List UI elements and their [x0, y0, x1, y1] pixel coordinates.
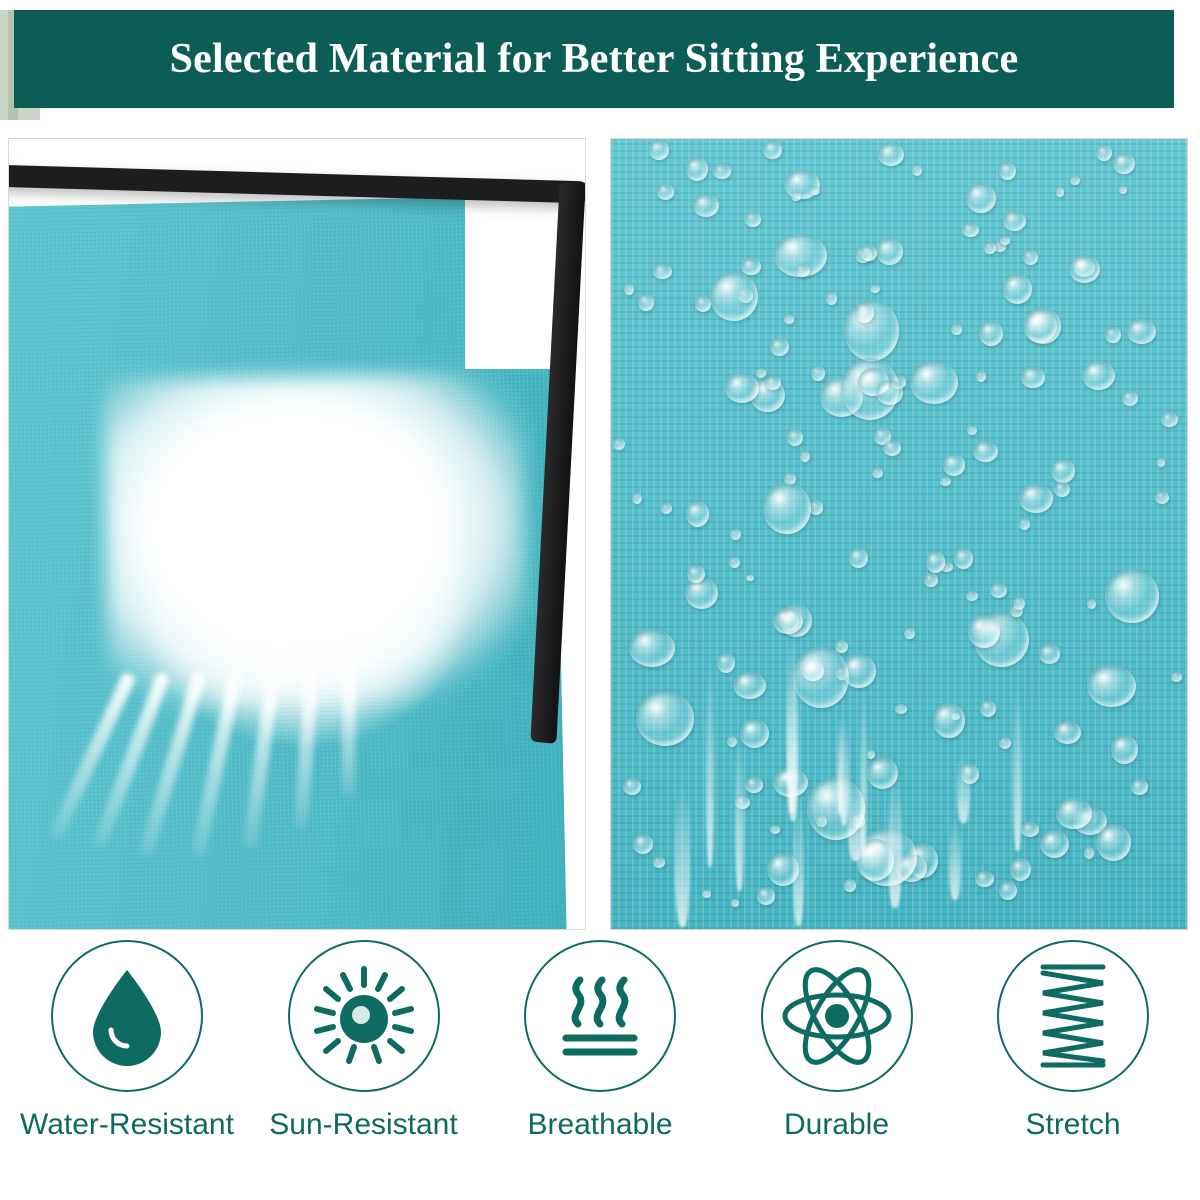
water-droplet — [811, 366, 824, 381]
water-droplet — [810, 187, 820, 195]
feature-label: Sun-Resistant — [269, 1108, 457, 1142]
water-droplet — [876, 238, 903, 265]
feature-label: Breathable — [527, 1108, 672, 1142]
water-droplet — [1155, 491, 1169, 504]
water-droplet — [1056, 187, 1065, 197]
water-droplet — [1087, 599, 1096, 609]
water-droplet — [686, 501, 709, 527]
water-streak — [706, 658, 714, 868]
water-droplet — [745, 777, 762, 792]
water-droplet — [770, 825, 780, 834]
page-title: Selected Material for Better Sitting Exp… — [170, 35, 1019, 83]
water-droplet — [1054, 721, 1081, 744]
water-droplet — [745, 212, 761, 228]
water-droplet — [842, 654, 877, 688]
water-droplet — [835, 640, 848, 653]
atom-icon — [781, 964, 893, 1068]
water-droplet — [849, 548, 868, 568]
water-droplet — [795, 264, 810, 277]
water-streak — [675, 779, 690, 926]
water-droplet — [867, 750, 876, 759]
feature-durable[interactable]: Durable — [724, 940, 950, 1142]
water-droplet — [727, 736, 737, 747]
water-droplet — [1056, 798, 1092, 829]
water-droplet — [763, 483, 810, 534]
water-droplet — [1111, 735, 1137, 764]
water-droplet — [999, 162, 1015, 180]
water-droplet — [966, 591, 978, 601]
water-droplet — [878, 143, 903, 166]
water-droplet — [999, 881, 1017, 900]
water-droplet — [980, 700, 996, 717]
water-droplet — [623, 778, 641, 794]
water-droplet — [844, 879, 856, 892]
water-droplet — [1051, 459, 1075, 483]
feature-circle — [997, 940, 1149, 1092]
water-droplet — [1131, 779, 1148, 795]
water-droplet — [1105, 327, 1121, 343]
water-droplet — [870, 285, 881, 294]
water-droplet — [940, 477, 951, 486]
water-droplet — [1000, 236, 1009, 244]
feature-label: Water-Resistant — [20, 1108, 234, 1142]
water-droplet — [895, 704, 907, 714]
water-droplet — [872, 468, 883, 479]
water-droplet — [717, 653, 735, 673]
banner-main: Selected Material for Better Sitting Exp… — [14, 10, 1174, 108]
water-streak — [848, 785, 863, 862]
water-droplet — [1019, 484, 1053, 513]
droplet-layer — [611, 139, 1187, 929]
water-droplet — [999, 737, 1011, 749]
water-droplet — [653, 264, 672, 280]
feature-sun-resistant[interactable]: Sun-Resistant — [251, 940, 477, 1142]
sun-glare-highlight — [103, 371, 530, 710]
water-droplet — [725, 373, 759, 403]
spring-icon — [1021, 961, 1125, 1071]
water-droplet — [1084, 847, 1095, 858]
water-droplet — [1054, 482, 1070, 497]
water-droplet — [624, 284, 634, 295]
water-droplet — [943, 454, 966, 476]
water-droplet — [741, 258, 760, 275]
water-droplet — [1039, 644, 1060, 663]
water-droplet — [933, 703, 965, 738]
water-droplet — [1003, 211, 1026, 231]
water-droplet — [826, 292, 838, 305]
water-droplet — [1096, 824, 1131, 861]
water-droplet — [713, 164, 731, 180]
water-droplet — [702, 890, 711, 899]
water-droplet — [973, 441, 998, 462]
water-droplet — [686, 157, 708, 180]
water-droplet — [632, 493, 642, 504]
water-drop-icon — [79, 964, 175, 1068]
water-droplet — [860, 245, 876, 261]
water-droplet — [975, 871, 994, 887]
water-droplet — [962, 223, 979, 237]
fabric-sunfade-photo — [8, 138, 586, 930]
feature-label: Stretch — [1025, 1108, 1120, 1142]
water-droplet — [984, 242, 996, 254]
water-droplet — [954, 548, 973, 569]
feature-label: Durable — [784, 1108, 889, 1142]
feature-circle — [524, 940, 676, 1092]
water-droplet — [1171, 672, 1182, 681]
water-droplet — [733, 672, 766, 699]
sun-icon — [309, 961, 419, 1071]
feature-circle — [288, 940, 440, 1092]
feature-circle — [761, 940, 913, 1092]
water-droplet — [740, 719, 769, 748]
water-droplet — [883, 440, 901, 456]
water-droplet — [800, 451, 810, 462]
feature-breathable[interactable]: Breathable — [487, 940, 713, 1142]
water-droplet — [926, 551, 945, 572]
water-droplet — [1023, 250, 1038, 265]
water-droplet — [765, 376, 781, 390]
water-droplet — [649, 140, 669, 160]
water-droplet — [924, 573, 937, 587]
water-droplet — [1122, 391, 1138, 406]
water-droplet — [613, 438, 625, 450]
water-droplet — [787, 429, 803, 446]
breathable-icon — [548, 964, 652, 1068]
water-droplet — [990, 583, 1008, 599]
water-streak — [837, 711, 843, 815]
feature-stretch[interactable]: Stretch — [960, 940, 1186, 1142]
water-droplet — [876, 380, 902, 405]
water-streak — [888, 770, 903, 908]
water-droplet — [636, 691, 694, 746]
water-droplet — [966, 183, 996, 213]
water-droplet — [633, 834, 654, 854]
water-droplet — [809, 500, 824, 514]
water-droplet — [756, 368, 766, 378]
water-droplet — [979, 321, 1004, 346]
water-droplet — [1127, 319, 1156, 345]
water-droplet — [731, 899, 740, 907]
water-droplet — [746, 575, 754, 582]
water-droplet — [1096, 145, 1112, 161]
header-banner: Selected Material for Better Sitting Exp… — [0, 10, 1200, 120]
water-droplet — [1003, 274, 1032, 304]
water-streak — [1013, 683, 1022, 851]
water-droplet — [710, 272, 758, 321]
water-droplet — [729, 557, 740, 568]
water-droplet — [661, 503, 673, 514]
water-droplet — [1069, 255, 1100, 283]
water-droplet — [770, 338, 789, 356]
water-droplet — [1019, 518, 1031, 530]
water-droplet — [1070, 176, 1080, 186]
water-droplet — [1087, 665, 1136, 707]
water-droplet — [1040, 830, 1070, 858]
water-droplet — [730, 529, 741, 540]
water-droplet — [1157, 458, 1165, 467]
water-droplet — [791, 192, 801, 201]
water-droplet — [695, 296, 710, 312]
water-droplet — [1119, 186, 1128, 194]
water-droplet — [1010, 858, 1031, 881]
photo-row — [8, 138, 1192, 930]
water-droplet — [976, 371, 986, 382]
water-droplet — [951, 324, 962, 334]
water-droplet — [1161, 412, 1178, 426]
water-droplets-photo — [610, 138, 1188, 930]
water-droplet — [638, 294, 654, 311]
water-streak — [949, 817, 961, 900]
feature-water-resistant[interactable]: Water-Resistant — [14, 940, 240, 1142]
water-droplet — [1025, 308, 1060, 344]
water-droplet — [653, 857, 665, 868]
glare-ray — [341, 657, 357, 797]
water-droplet — [629, 629, 675, 667]
water-droplet — [693, 194, 719, 217]
water-droplet — [904, 628, 915, 640]
water-droplet — [793, 647, 849, 708]
water-streak — [735, 729, 744, 892]
water-droplet — [967, 426, 976, 435]
water-droplet — [657, 184, 675, 200]
water-streak — [957, 752, 970, 823]
feature-circle — [51, 940, 203, 1092]
water-droplet — [910, 361, 958, 405]
water-droplet — [757, 887, 776, 905]
water-streak — [787, 665, 799, 822]
feature-row: Water-Resistant — [0, 940, 1200, 1190]
water-droplet — [1082, 361, 1115, 390]
water-droplet — [784, 315, 794, 323]
water-droplet — [912, 165, 923, 176]
water-droplet — [687, 565, 705, 583]
water-droplet — [1021, 822, 1039, 837]
water-droplet — [1113, 153, 1135, 175]
water-droplet — [1021, 367, 1044, 388]
water-droplet — [1013, 597, 1025, 610]
water-droplet — [763, 141, 781, 160]
water-droplet — [1105, 569, 1159, 623]
